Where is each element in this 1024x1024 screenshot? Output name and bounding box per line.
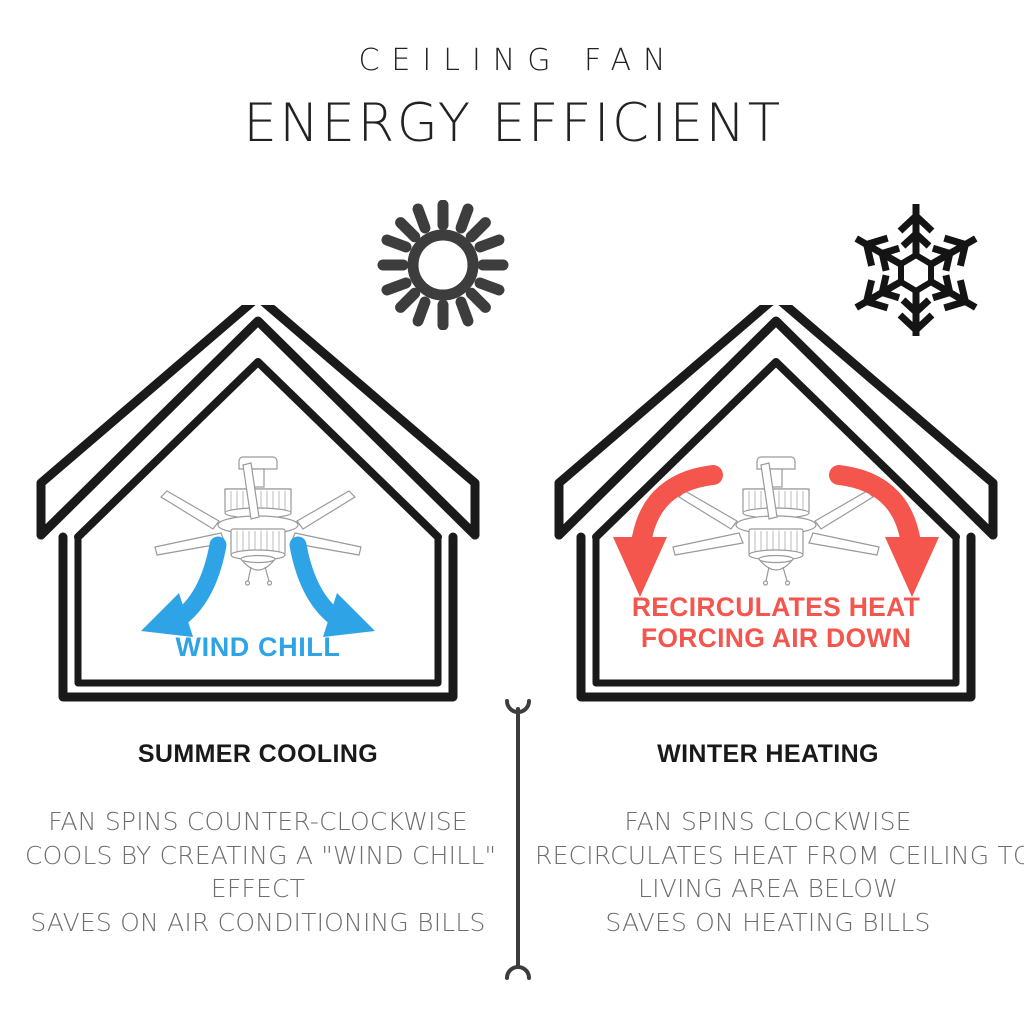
column-winter: WINTER HEATING FAN SPINS CLOCKWISE RECIR… [535,742,1001,939]
infographic-canvas: CEILING FAN ENERGY EFFICIENT [0,0,1024,1024]
airflow-arrow-left [141,545,218,637]
heatflow-arrow-left [613,475,713,597]
heatflow-arrow-right [839,475,939,597]
winter-body: FAN SPINS CLOCKWISE RECIRCULATES HEAT FR… [535,805,1001,939]
callout-line: RECIRCULATES HEAT [632,592,920,622]
column-summer: SUMMER COOLING FAN SPINS COUNTER-CLOCKWI… [25,742,491,939]
body-line: FAN SPINS CLOCKWISE [535,805,1001,839]
winter-heading: WINTER HEATING [535,742,1001,767]
recirculates-heat-callout: RECIRCULATES HEAT FORCING AIR DOWN [551,592,1001,655]
airflow-arrow-right [298,545,375,637]
eyebrow-title: CEILING FAN [0,46,1024,76]
body-line: SAVES ON HEATING BILLS [535,906,1001,940]
body-line: COOLS BY CREATING A "WIND CHILL" [25,839,491,873]
summer-body: FAN SPINS COUNTER-CLOCKWISE COOLS BY CRE… [25,805,491,939]
body-line: FAN SPINS COUNTER-CLOCKWISE [25,805,491,839]
page-title: ENERGY EFFICIENT [0,95,1024,153]
body-line: SAVES ON AIR CONDITIONING BILLS [25,906,491,940]
callout-line: WIND CHILL [176,632,341,662]
summer-heading: SUMMER COOLING [25,742,491,767]
body-line: LIVING AREA BELOW [535,872,1001,906]
ceiling-fan-icon [155,457,361,585]
divider-bottom-finial [507,967,529,978]
callout-line: FORCING AIR DOWN [641,623,911,653]
body-line: EFFECT [25,872,491,906]
wind-chill-callout: WIND CHILL [33,632,483,664]
body-line: RECIRCULATES HEAT FROM CEILING TO [535,839,1001,873]
vertical-divider [496,697,540,982]
